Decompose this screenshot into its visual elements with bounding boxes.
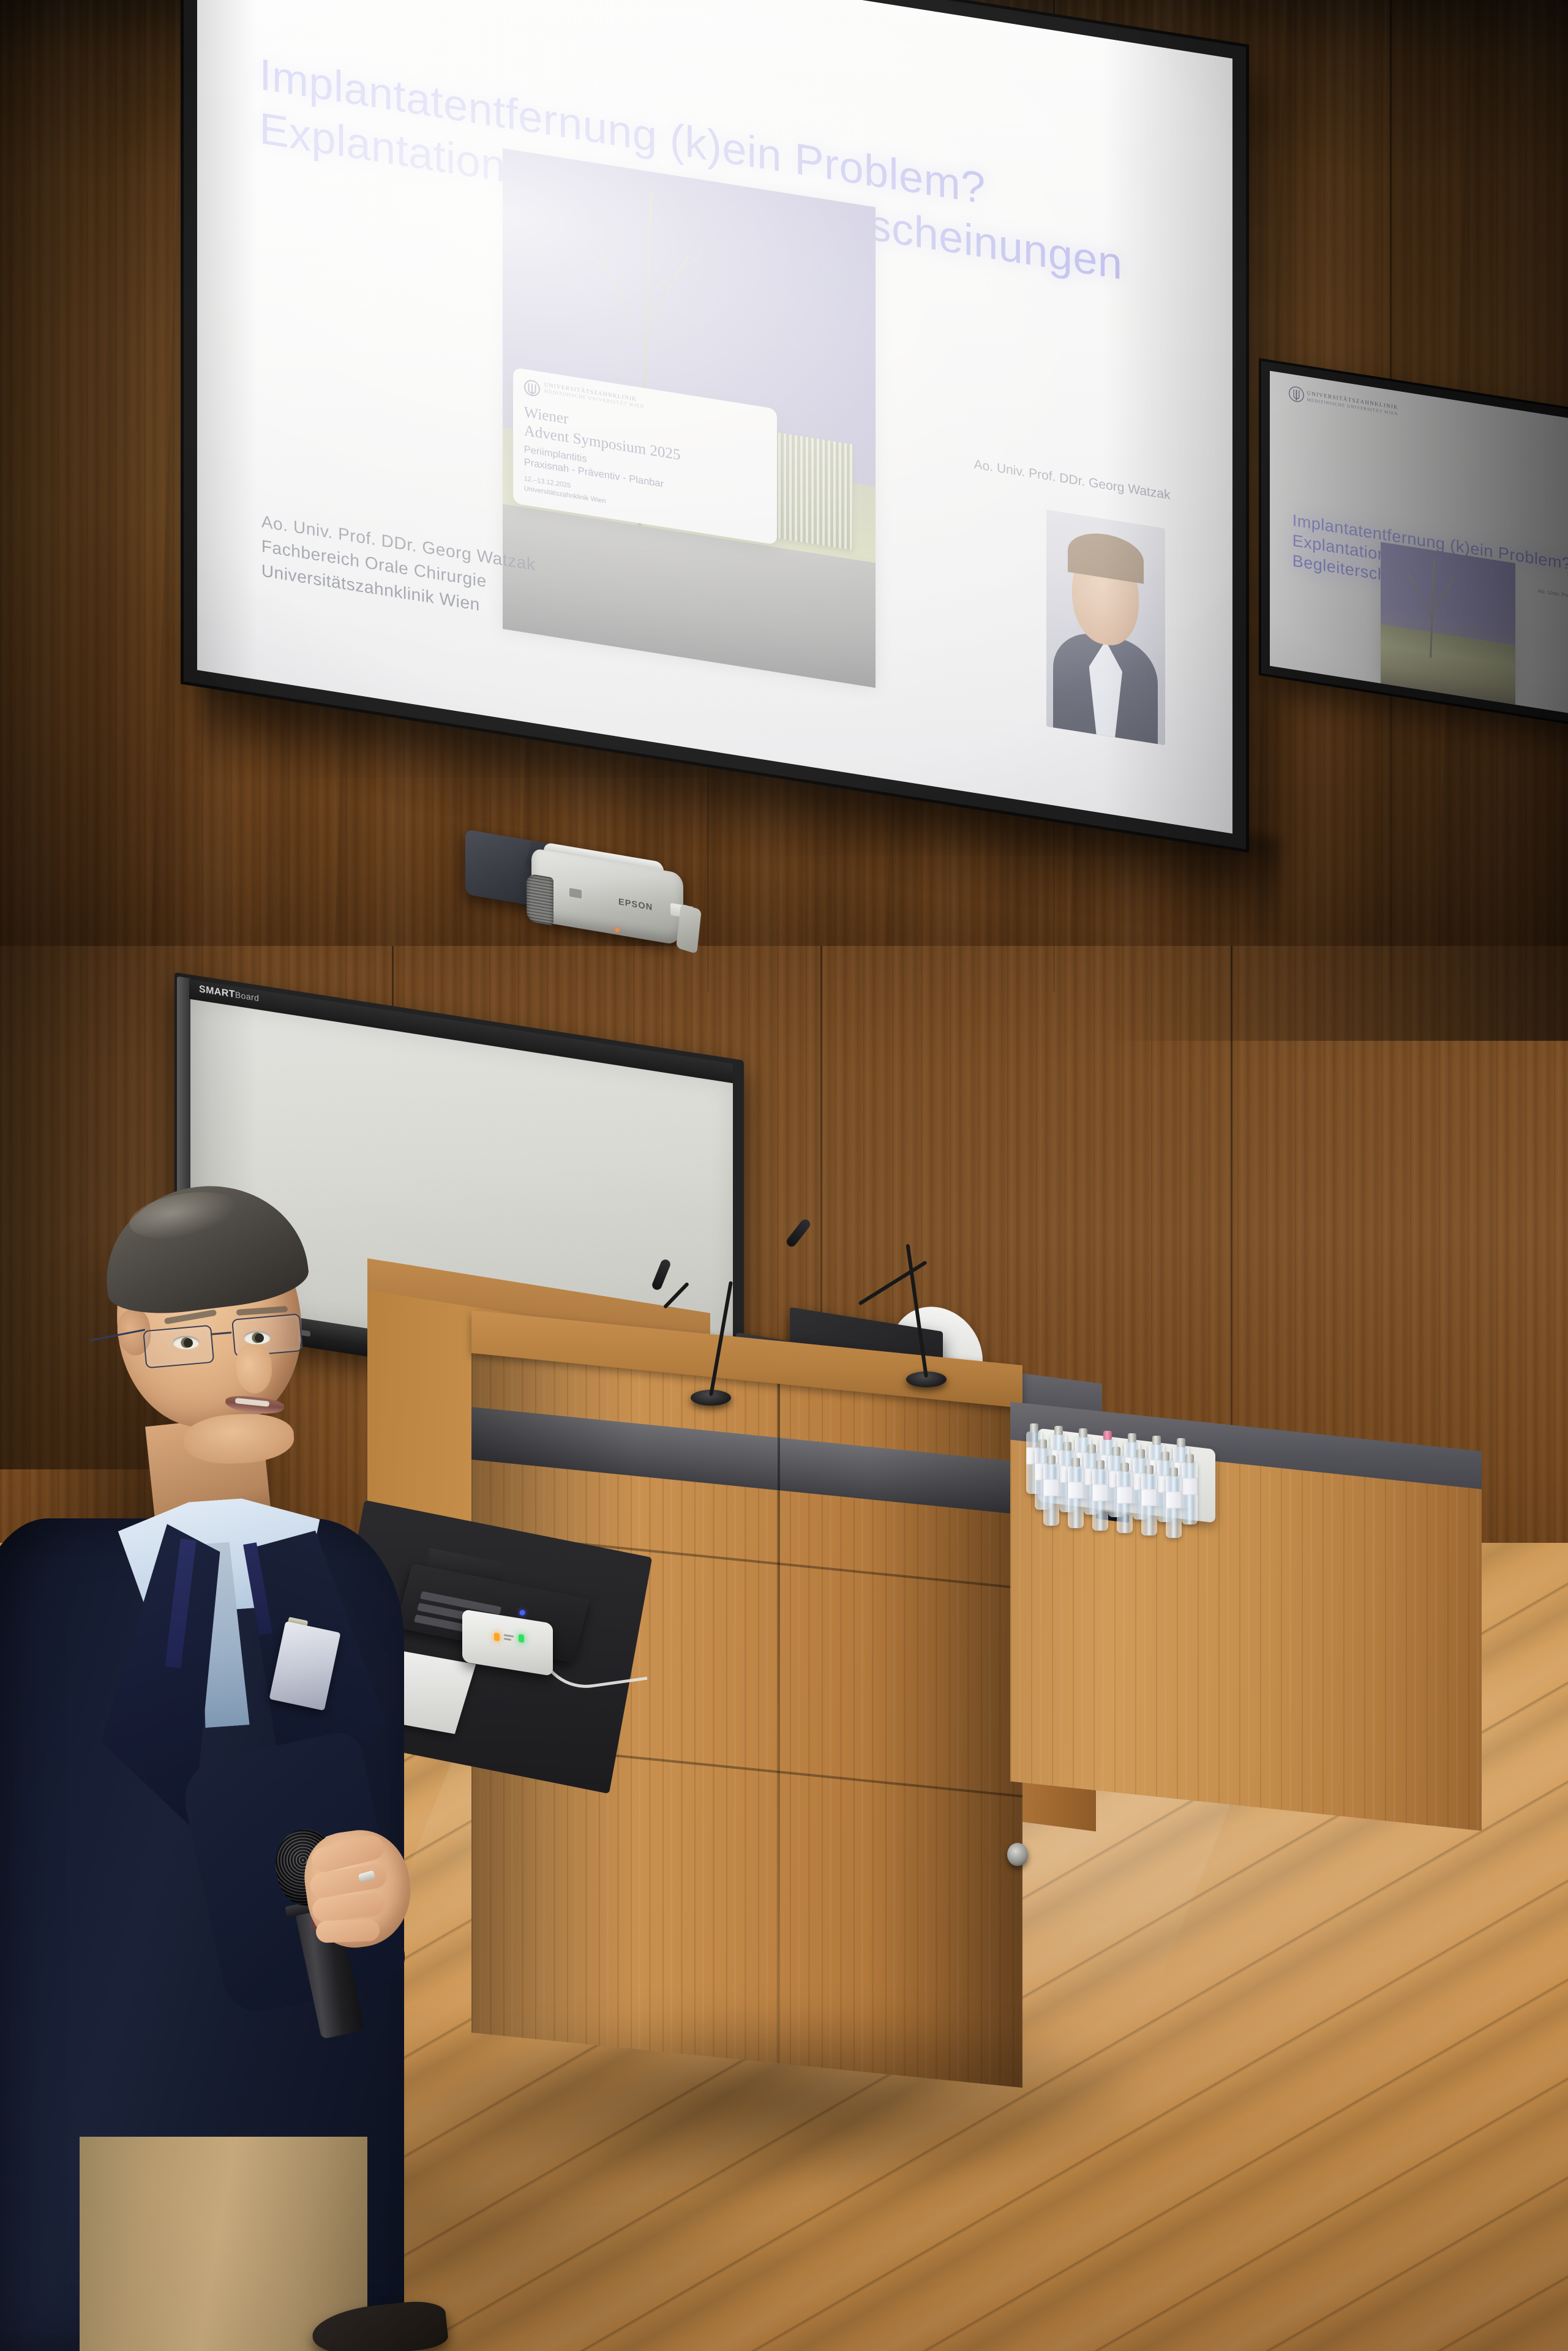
projector-lens [527, 873, 553, 925]
pupil [255, 1333, 264, 1343]
water-bottle[interactable] [1092, 1468, 1108, 1531]
pupil [184, 1338, 193, 1348]
water-bottle[interactable] [1166, 1475, 1182, 1538]
wall-shadow-right [1103, 0, 1568, 1041]
lectern-caster-wheel [1007, 1843, 1028, 1866]
router-led-green-icon [519, 1634, 524, 1643]
water-bottle[interactable] [1117, 1471, 1133, 1533]
lecture-hall-scene: UNIVERSITÄTSZAHNKLINIK MEDIZINISCHE UNIV… [0, 0, 1568, 2351]
lectern-floor-shadow [422, 2008, 1133, 2192]
presenter[interactable] [0, 1175, 502, 2351]
projector-status-led-icon [615, 928, 619, 932]
router-wifi-icon-bar [504, 1638, 511, 1641]
water-bottle[interactable] [1068, 1466, 1084, 1528]
presenter-eye-right [244, 1331, 271, 1344]
router-wifi-icon [504, 1634, 514, 1638]
presenter-trousers [80, 2137, 367, 2351]
presenter-eye-left [173, 1336, 200, 1349]
water-bottle[interactable] [1182, 1462, 1198, 1524]
flyer-logo-mark [524, 379, 540, 397]
keyboard-status-led-icon [519, 1610, 525, 1616]
water-bottle[interactable] [1043, 1463, 1059, 1526]
eyeglass-bridge [211, 1332, 231, 1335]
water-bottle[interactable] [1141, 1473, 1157, 1535]
presenter-finger [315, 1919, 380, 1943]
